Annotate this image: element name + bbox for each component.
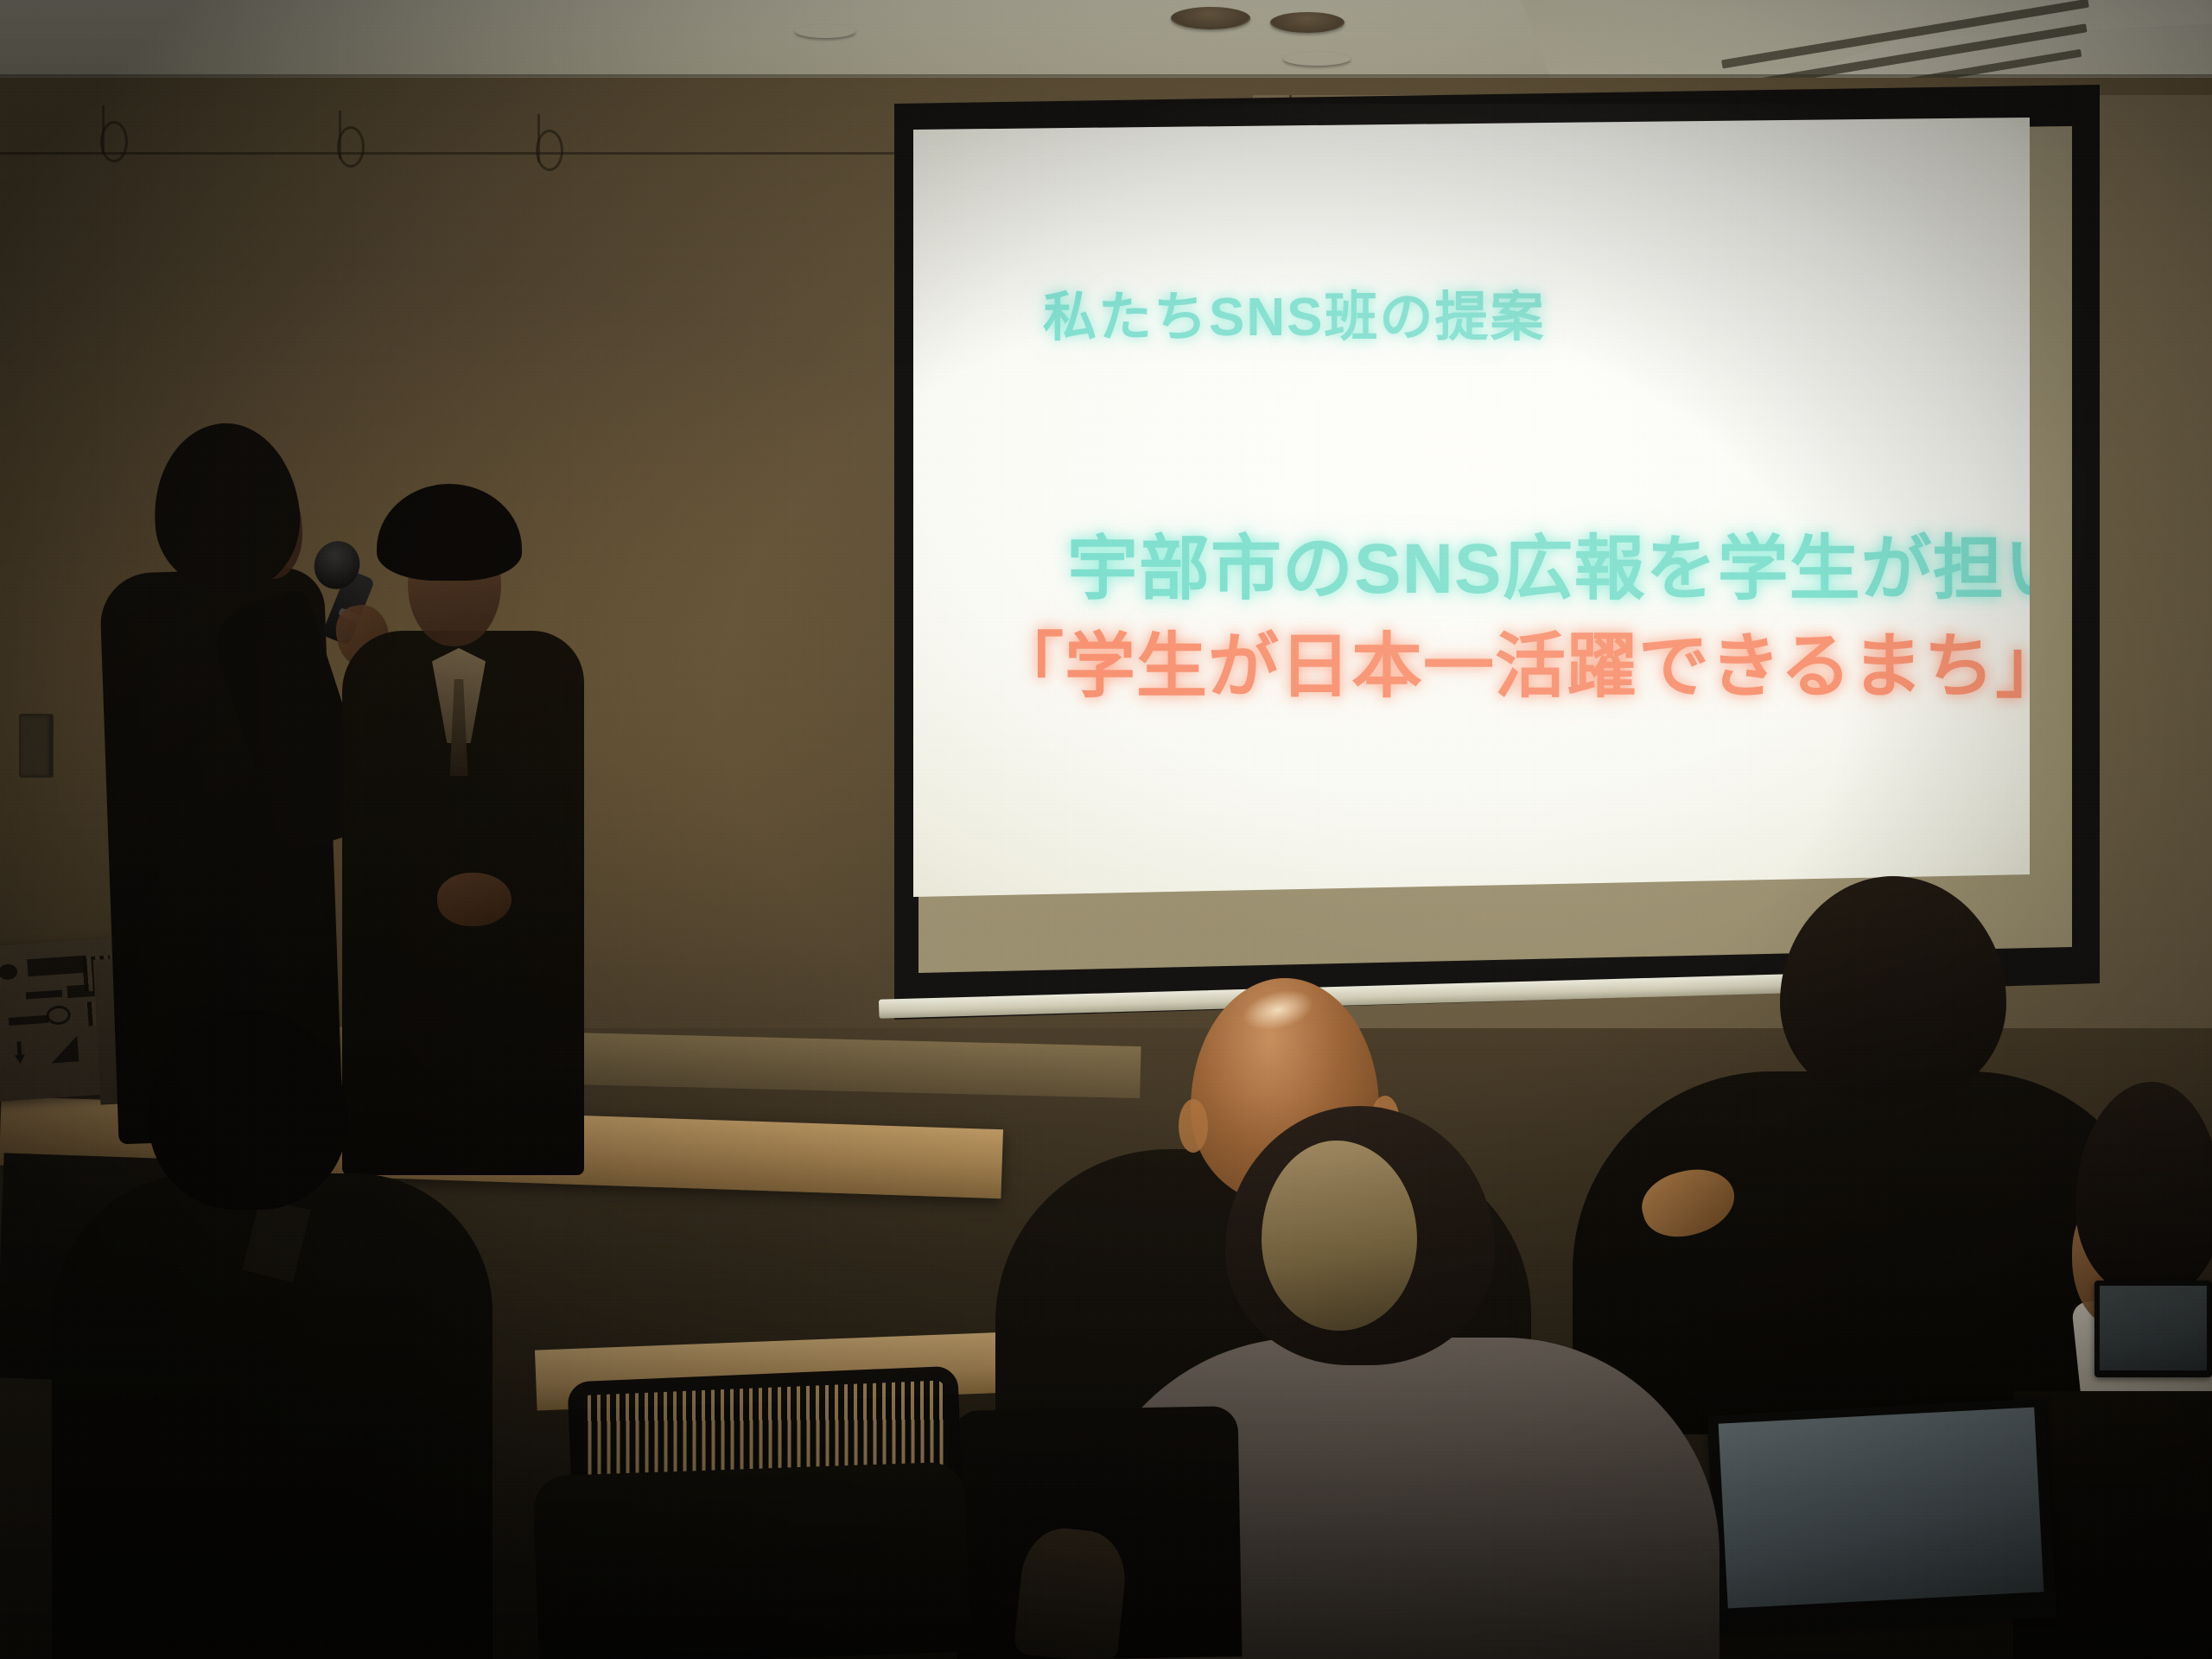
wall-hook-icon (337, 126, 365, 168)
slide-body-line-2: 「学生が日本一活躍できるまち」にする (993, 608, 2212, 711)
wall-hook-icon (536, 130, 563, 171)
recessed-downlight-icon (1270, 12, 1344, 33)
recessed-downlight-icon (1171, 7, 1250, 29)
poster-text-block (26, 990, 62, 1000)
wall-switch-plate[interactable] (19, 714, 54, 778)
wall-seam-line (0, 152, 950, 155)
poster-triangle-icon (49, 1035, 79, 1063)
slide-body-quoted-phrase: 「学生が日本一活躍できるまち」 (993, 627, 2067, 706)
ceiling-speaker-icon (795, 24, 855, 38)
poster-text-block (27, 956, 86, 977)
laptop-far-right-edge[interactable] (2094, 1281, 2212, 1377)
poster-text-block (9, 1015, 49, 1026)
poster-circle-icon (46, 1005, 71, 1026)
ceiling-speaker-icon (1283, 52, 1351, 66)
poster-bullet-icon (0, 963, 18, 980)
presentation-room-photo: 私たちSNS班の提案 宇部市のSNS広報を学生が担い 「学生が日本一活躍できるま… (0, 0, 2212, 1659)
laptop-screen[interactable] (2100, 1286, 2207, 1370)
presenter-2-hands (437, 873, 512, 926)
mesh-chair-seat[interactable] (532, 1461, 970, 1659)
slide-title: 私たちSNS班の提案 (1043, 273, 1545, 351)
audience-2-ear (1179, 1099, 1208, 1153)
wall-hook-icon (100, 121, 128, 162)
slide-body-line-1: 宇部市のSNS広報を学生が担い (1067, 511, 2076, 613)
laptop-screen[interactable] (1719, 1408, 2044, 1609)
poster-down-arrow-icon (14, 1041, 26, 1065)
laptop-lower-right[interactable] (1713, 1407, 2051, 1626)
projected-slide: 私たちSNS班の提案 宇部市のSNS広報を学生が担い 「学生が日本一活躍できるま… (913, 118, 2030, 897)
